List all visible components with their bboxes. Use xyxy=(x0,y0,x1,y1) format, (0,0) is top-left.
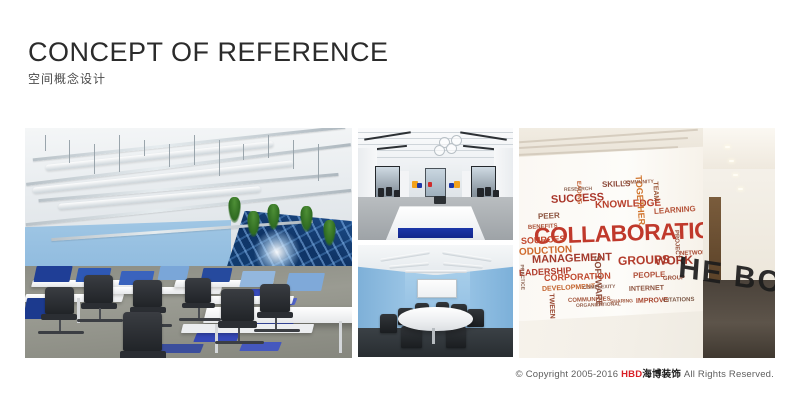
downlight xyxy=(733,174,738,176)
downlight xyxy=(729,160,734,162)
ceiling-line xyxy=(358,144,513,145)
slide-header: CONCEPT OF REFERENCE 空间概念设计 xyxy=(28,38,728,87)
task-chair-back xyxy=(221,289,254,321)
corridor-ceiling xyxy=(703,128,775,169)
ceiling-hanger xyxy=(219,140,220,177)
word-cloud-word: SHARING xyxy=(610,299,633,305)
accent-block xyxy=(454,181,460,189)
room-chair xyxy=(477,188,483,197)
task-chair-back xyxy=(260,284,289,312)
hanging-plant xyxy=(267,204,280,230)
word-cloud-word: INTERNET xyxy=(629,285,664,293)
accent-block xyxy=(417,183,422,189)
ceiling-hanger xyxy=(119,135,120,172)
brand-name-latin: HBD xyxy=(621,369,642,380)
word-cloud-word: PEOPLE xyxy=(633,271,666,280)
hanging-plant xyxy=(228,197,241,223)
desk-leg xyxy=(339,321,342,353)
hanging-plant xyxy=(300,206,313,232)
task-chair-base xyxy=(254,329,300,332)
task-chair-back xyxy=(185,278,211,303)
ceiling-hanger xyxy=(169,144,170,167)
desk-divider xyxy=(285,273,325,291)
image-gallery: COLLABORATIONSUCCESSKNOWLEDGESKILLSTOGET… xyxy=(25,128,775,358)
task-chair-post xyxy=(275,318,277,329)
task-chair-back xyxy=(45,287,74,315)
task-chair-base xyxy=(215,341,264,344)
ceiling-hanger xyxy=(293,140,294,170)
reception-monitor xyxy=(434,196,446,204)
word-cloud-word: COMPLEXITY xyxy=(583,285,616,291)
copyright-prefix: © Copyright 2005-2016 xyxy=(516,369,621,380)
photo-open-plan-office[interactable] xyxy=(25,128,352,358)
ceiling-line xyxy=(358,132,513,133)
downlight xyxy=(738,188,743,190)
reception-desk-blue-front xyxy=(398,228,472,238)
word-cloud-word: TWEEN xyxy=(548,293,556,319)
meeting-table-post xyxy=(432,328,435,344)
page-subtitle: 空间概念设计 xyxy=(28,73,728,86)
page-title: CONCEPT OF REFERENCE xyxy=(28,38,728,66)
task-chair-base xyxy=(179,318,222,321)
accent-block xyxy=(449,183,454,189)
hanging-plant xyxy=(323,220,336,246)
ceiling-hanger xyxy=(243,144,244,160)
ceiling-hanger xyxy=(318,144,319,181)
task-chair-post xyxy=(238,328,240,341)
room-chair xyxy=(485,187,491,196)
task-chair-post xyxy=(198,308,200,318)
word-cloud-word: PRACTICE xyxy=(519,264,524,290)
task-chair-base xyxy=(38,331,84,334)
conference-chair xyxy=(380,314,397,333)
word-cloud-word: PEER xyxy=(538,212,560,221)
ceiling-hanger xyxy=(45,135,46,151)
meeting-whiteboard xyxy=(417,279,457,298)
desk-divider xyxy=(33,266,72,282)
gallery-column-middle xyxy=(358,128,513,358)
brand-name-cjk: 海博装饰 xyxy=(642,369,681,380)
ceiling-hanger xyxy=(268,135,269,158)
photo-reception-corridor[interactable] xyxy=(358,128,513,240)
pendant-light xyxy=(451,135,462,146)
task-chair-post xyxy=(99,308,101,319)
copyright-footer: © Copyright 2005-2016 HBD海博装饰 All Rights… xyxy=(516,366,774,380)
task-chair-back xyxy=(133,280,162,308)
ceiling-hanger xyxy=(69,140,70,163)
word-cloud-word: CITATIONS xyxy=(663,297,695,304)
gallery-column-right: COLLABORATIONSUCCESSKNOWLEDGESKILLSTOGET… xyxy=(519,128,775,358)
task-chair-back xyxy=(84,275,113,303)
wordwall-corridor xyxy=(703,128,775,358)
ceiling-hanger xyxy=(194,135,195,165)
photo-blue-meeting-room[interactable] xyxy=(358,245,513,357)
ceiling-hanger xyxy=(144,140,145,156)
word-cloud-word: LEARNING xyxy=(653,205,695,216)
task-chair-back xyxy=(123,312,162,351)
photo-collaboration-word-wall[interactable]: COLLABORATIONSUCCESSKNOWLEDGESKILLSTOGET… xyxy=(519,128,775,358)
ceiling-line xyxy=(358,157,513,158)
task-chair-post xyxy=(59,320,61,331)
room-chair xyxy=(378,188,384,197)
gallery-column-left xyxy=(25,128,352,358)
accent-block xyxy=(428,182,433,188)
task-chair-base xyxy=(77,319,123,322)
meeting-oval-table xyxy=(398,307,472,332)
ceiling-tube xyxy=(405,270,467,273)
ceiling-line xyxy=(358,138,513,139)
word-cloud-graphic: COLLABORATIONSUCCESSKNOWLEDGESKILLSTOGET… xyxy=(519,146,708,321)
word-cloud-word: COMMUNITY xyxy=(623,180,654,186)
desk-divider xyxy=(158,266,190,280)
task-chair-seat xyxy=(120,351,166,358)
desk-leg xyxy=(215,324,218,354)
ceiling-hanger xyxy=(94,144,95,174)
copyright-suffix: All Rights Reserved. xyxy=(681,369,774,380)
room-chair xyxy=(386,187,392,196)
word-cloud-word: KNOWLEDGE xyxy=(595,198,661,210)
pendant-light xyxy=(434,145,445,156)
